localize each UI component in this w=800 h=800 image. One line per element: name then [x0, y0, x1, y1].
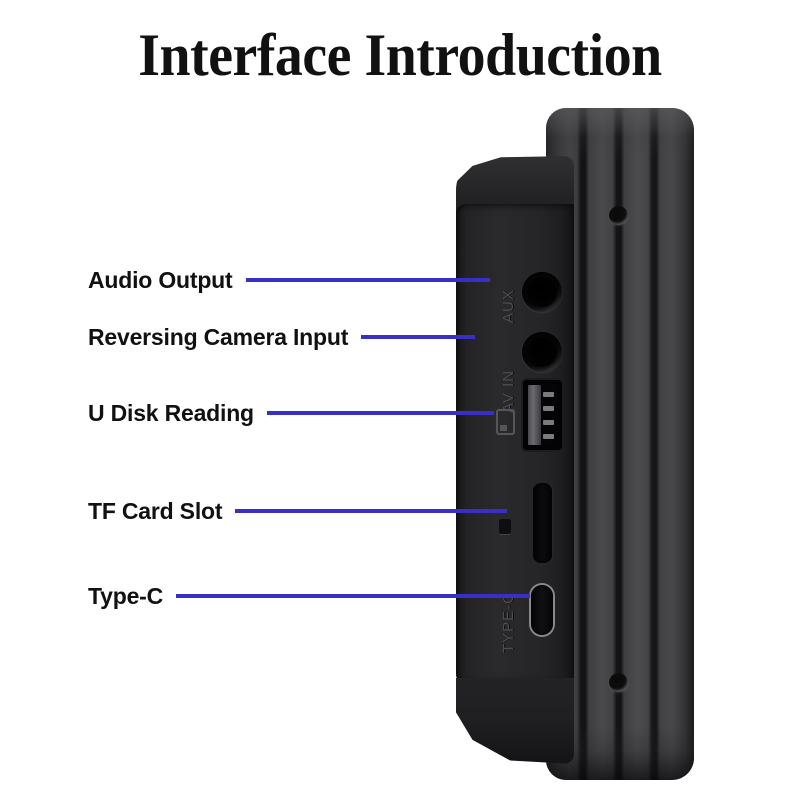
page-title: Interface Introduction: [28, 22, 772, 88]
device-bottom-shoulder: [456, 678, 574, 764]
audio-output-jack[interactable]: [522, 272, 562, 312]
usb-contact-pad: [543, 406, 554, 411]
callout-label-audio-output: Audio Output: [88, 265, 233, 295]
leader-line-audio-output: [246, 278, 490, 282]
usb-a-port[interactable]: [523, 380, 562, 450]
callout-label-tf-card-slot: TF Card Slot: [88, 496, 222, 526]
callout-label-u-disk-reading: U Disk Reading: [88, 398, 254, 428]
callout-tf-card-slot[interactable]: TF Card Slot: [88, 496, 507, 526]
usb-contact-pad: [543, 420, 554, 425]
usb-contact-pad: [543, 392, 554, 397]
callout-type-c[interactable]: Type-C: [88, 581, 530, 611]
leader-line-u-disk-reading: [267, 411, 494, 415]
leader-line-reversing-camera-input: [361, 335, 475, 339]
reversing-camera-input-jack[interactable]: [522, 332, 562, 372]
callout-reversing-camera-input[interactable]: Reversing Camera Input: [88, 322, 475, 352]
callout-audio-output[interactable]: Audio Output: [88, 265, 490, 295]
usb-contact-pad: [543, 434, 554, 439]
silkscreen-av-in: AV IN: [500, 370, 517, 413]
device-illustration: AUX AV IN TYPE-C: [438, 108, 698, 780]
callout-label-reversing-camera-input: Reversing Camera Input: [88, 322, 348, 352]
silkscreen-aux: AUX: [500, 289, 517, 323]
usb-type-c-port[interactable]: [531, 585, 553, 635]
callout-u-disk-reading[interactable]: U Disk Reading: [88, 398, 494, 428]
screw-hole-bottom: [609, 673, 628, 692]
leader-line-type-c: [176, 594, 530, 598]
callout-label-type-c: Type-C: [88, 581, 163, 611]
microsd-card-slot[interactable]: [533, 483, 552, 563]
usb-tongue: [528, 385, 541, 445]
leader-line-tf-card-slot: [235, 509, 507, 513]
usb-icon: [496, 409, 515, 435]
screw-hole-top: [609, 206, 628, 225]
